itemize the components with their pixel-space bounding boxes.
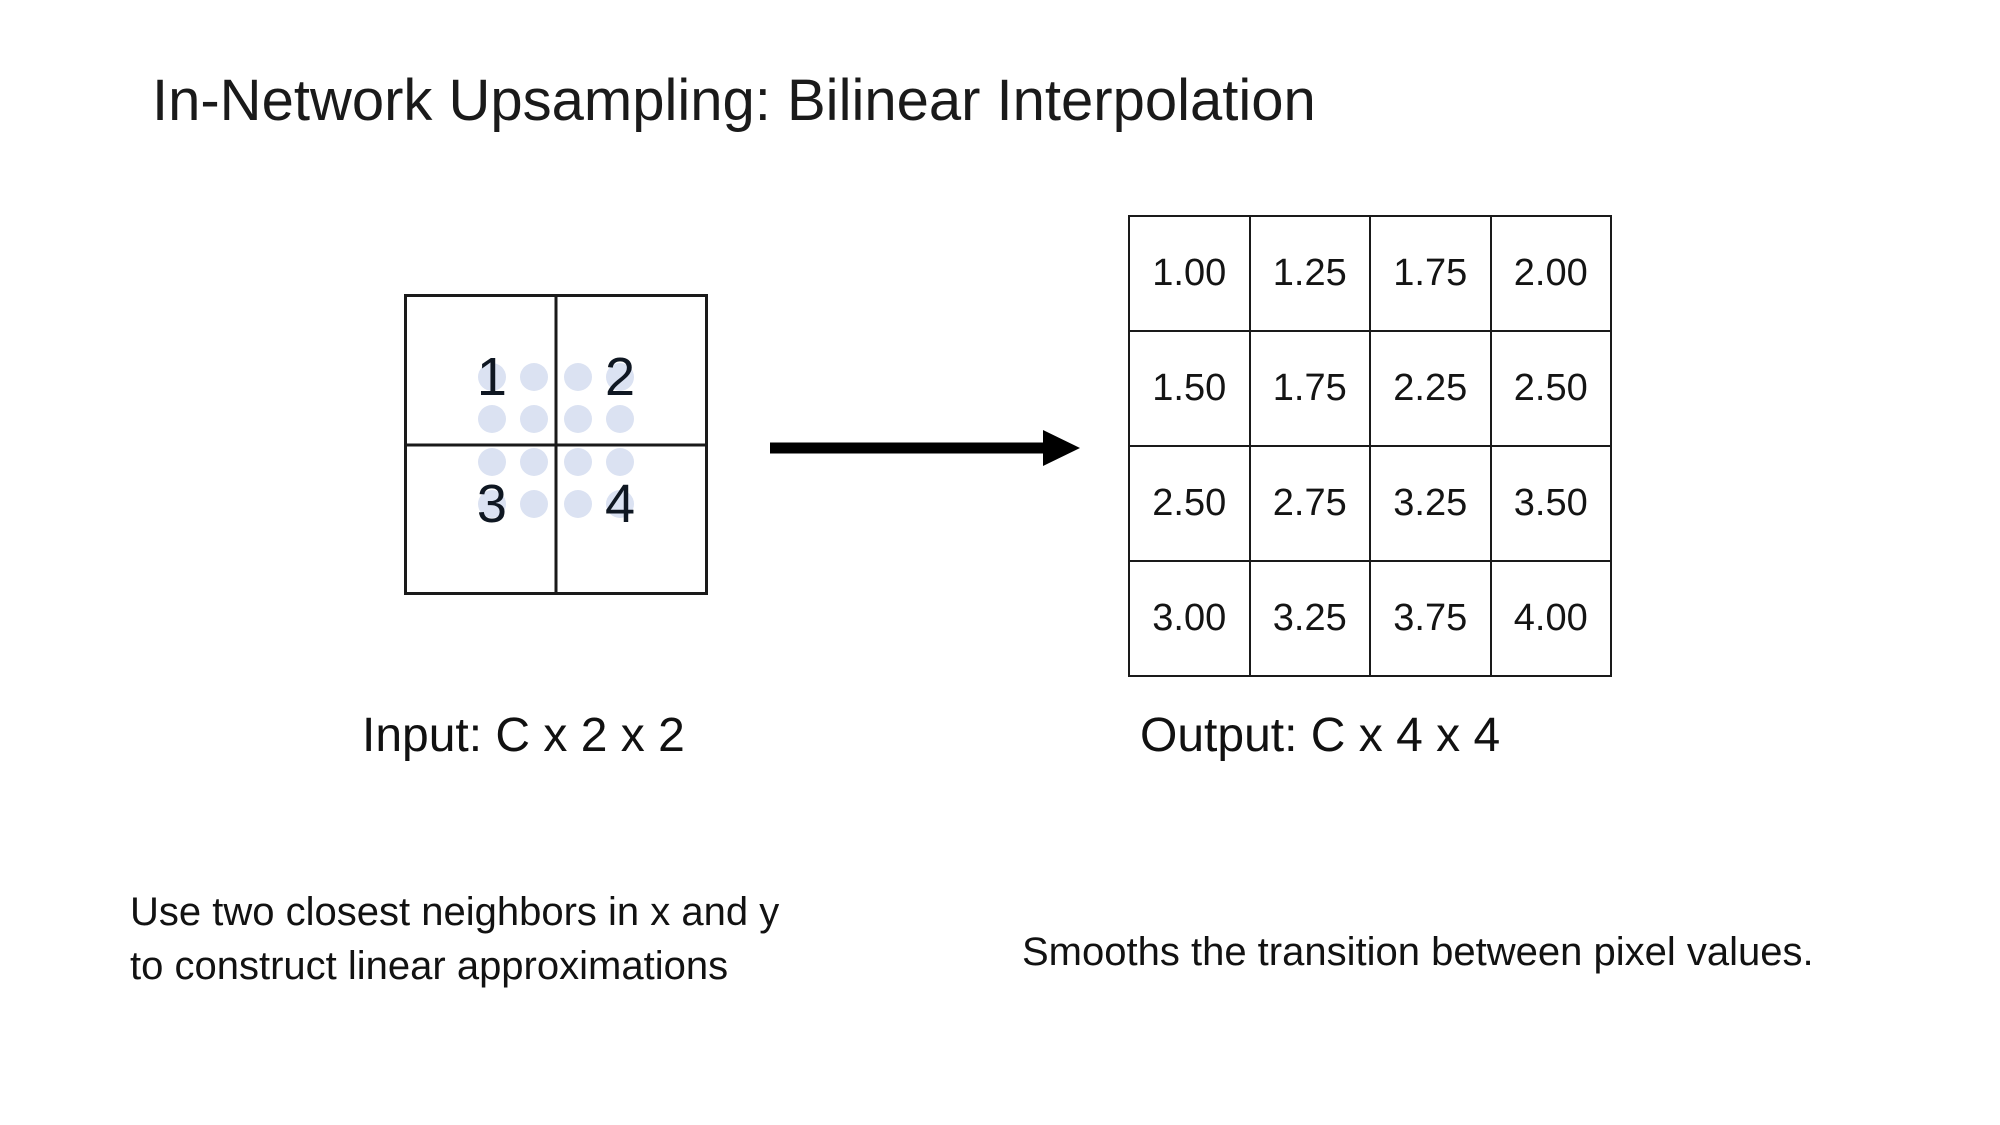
output-cell-r0c2: 1.75 bbox=[1370, 216, 1491, 331]
input-dot-r3c1 bbox=[520, 490, 548, 518]
input-dot-r2c2 bbox=[564, 448, 592, 476]
input-dot-r1c2 bbox=[564, 405, 592, 433]
table-row: 2.50 2.75 3.25 3.50 bbox=[1129, 446, 1611, 561]
table-row: 3.00 3.25 3.75 4.00 bbox=[1129, 561, 1611, 676]
slide-canvas: In-Network Upsampling: Bilinear Interpol… bbox=[0, 0, 2000, 1125]
input-dot-r0c1 bbox=[520, 363, 548, 391]
output-grid: 1.00 1.25 1.75 2.00 1.50 1.75 2.25 2.50 … bbox=[1128, 215, 1612, 677]
table-row: 1.50 1.75 2.25 2.50 bbox=[1129, 331, 1611, 446]
output-cell-r0c0: 1.00 bbox=[1129, 216, 1250, 331]
output-cell-r3c0: 3.00 bbox=[1129, 561, 1250, 676]
output-cell-r3c3: 4.00 bbox=[1491, 561, 1612, 676]
input-dot-field bbox=[407, 297, 705, 592]
output-cell-r2c3: 3.50 bbox=[1491, 446, 1612, 561]
right-arrow-icon bbox=[768, 418, 1088, 478]
input-dot-r2c1 bbox=[520, 448, 548, 476]
input-dot-r1c1 bbox=[520, 405, 548, 433]
note-left: Use two closest neighbors in x and y to … bbox=[130, 885, 779, 993]
input-cell-value-r1c0: 3 bbox=[477, 477, 507, 531]
input-cell-value-r0c0: 1 bbox=[477, 350, 507, 404]
output-cell-r3c1: 3.25 bbox=[1250, 561, 1371, 676]
input-caption: Input: C x 2 x 2 bbox=[362, 708, 685, 763]
output-cell-r2c1: 2.75 bbox=[1250, 446, 1371, 561]
input-dot-r1c0 bbox=[478, 405, 506, 433]
output-cell-r1c0: 1.50 bbox=[1129, 331, 1250, 446]
input-cell-value-r0c1: 2 bbox=[605, 350, 635, 404]
input-dot-r3c2 bbox=[564, 490, 592, 518]
output-cell-r1c3: 2.50 bbox=[1491, 331, 1612, 446]
table-row: 1.00 1.25 1.75 2.00 bbox=[1129, 216, 1611, 331]
input-dot-r2c3 bbox=[606, 448, 634, 476]
output-cell-r0c3: 2.00 bbox=[1491, 216, 1612, 331]
input-grid: 1 2 3 4 bbox=[404, 294, 708, 595]
note-right: Smooths the transition between pixel val… bbox=[1022, 925, 1814, 979]
input-dot-r1c3 bbox=[606, 405, 634, 433]
output-cell-r0c1: 1.25 bbox=[1250, 216, 1371, 331]
output-cell-r1c2: 2.25 bbox=[1370, 331, 1491, 446]
input-dot-r0c2 bbox=[564, 363, 592, 391]
output-cell-r2c2: 3.25 bbox=[1370, 446, 1491, 561]
output-cell-r3c2: 3.75 bbox=[1370, 561, 1491, 676]
input-dot-r2c0 bbox=[478, 448, 506, 476]
output-cell-r2c0: 2.50 bbox=[1129, 446, 1250, 561]
output-caption: Output: C x 4 x 4 bbox=[1140, 708, 1500, 763]
output-cell-r1c1: 1.75 bbox=[1250, 331, 1371, 446]
page-title: In-Network Upsampling: Bilinear Interpol… bbox=[152, 68, 1316, 135]
input-cell-value-r1c1: 4 bbox=[605, 477, 635, 531]
